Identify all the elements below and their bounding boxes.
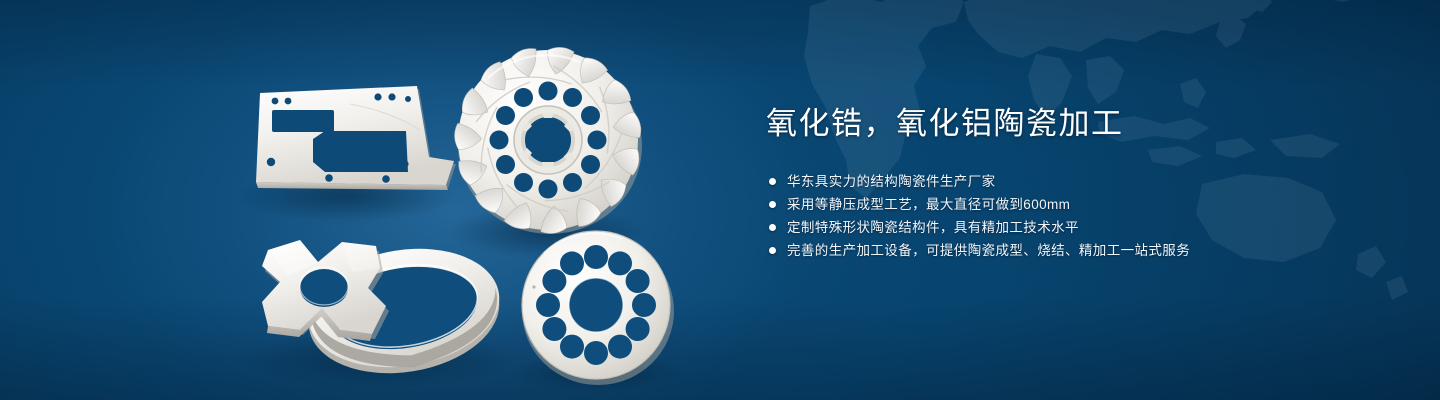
list-item-label: 华东具实力的结构陶瓷件生产厂家 (787, 170, 996, 193)
list-item-label: 完善的生产加工设备，可提供陶瓷成型、烧结、精加工一站式服务 (787, 239, 1190, 262)
list-item-label: 定制特殊形状陶瓷结构件，具有精加工技术水平 (787, 216, 1079, 239)
list-item: 定制特殊形状陶瓷结构件，具有精加工技术水平 (766, 216, 1386, 239)
bullet-dot-icon (769, 224, 776, 231)
product-photo-cluster (0, 0, 740, 400)
bullet-dot-icon (769, 201, 776, 208)
list-item: 华东具实力的结构陶瓷件生产厂家 (766, 170, 1386, 193)
bullet-dot-icon (769, 247, 776, 254)
bullet-dot-icon (769, 178, 776, 185)
hero-banner: 氧化锆，氧化铝陶瓷加工 华东具实力的结构陶瓷件生产厂家 采用等静压成型工艺，最大… (0, 0, 1440, 400)
list-item: 完善的生产加工设备，可提供陶瓷成型、烧结、精加工一站式服务 (766, 239, 1386, 262)
page-title: 氧化锆，氧化铝陶瓷加工 (766, 104, 1386, 144)
list-item: 采用等静压成型工艺，最大直径可做到600mm (766, 193, 1386, 216)
copy-block: 氧化锆，氧化铝陶瓷加工 华东具实力的结构陶瓷件生产厂家 采用等静压成型工艺，最大… (766, 104, 1386, 262)
feature-list: 华东具实力的结构陶瓷件生产厂家 采用等静压成型工艺，最大直径可做到600mm 定… (766, 170, 1386, 262)
list-item-label: 采用等静压成型工艺，最大直径可做到600mm (787, 193, 1070, 216)
ceramic-hole-ring (522, 231, 674, 385)
ceramic-flat-plate (256, 86, 456, 190)
ceramic-impeller (453, 45, 644, 236)
